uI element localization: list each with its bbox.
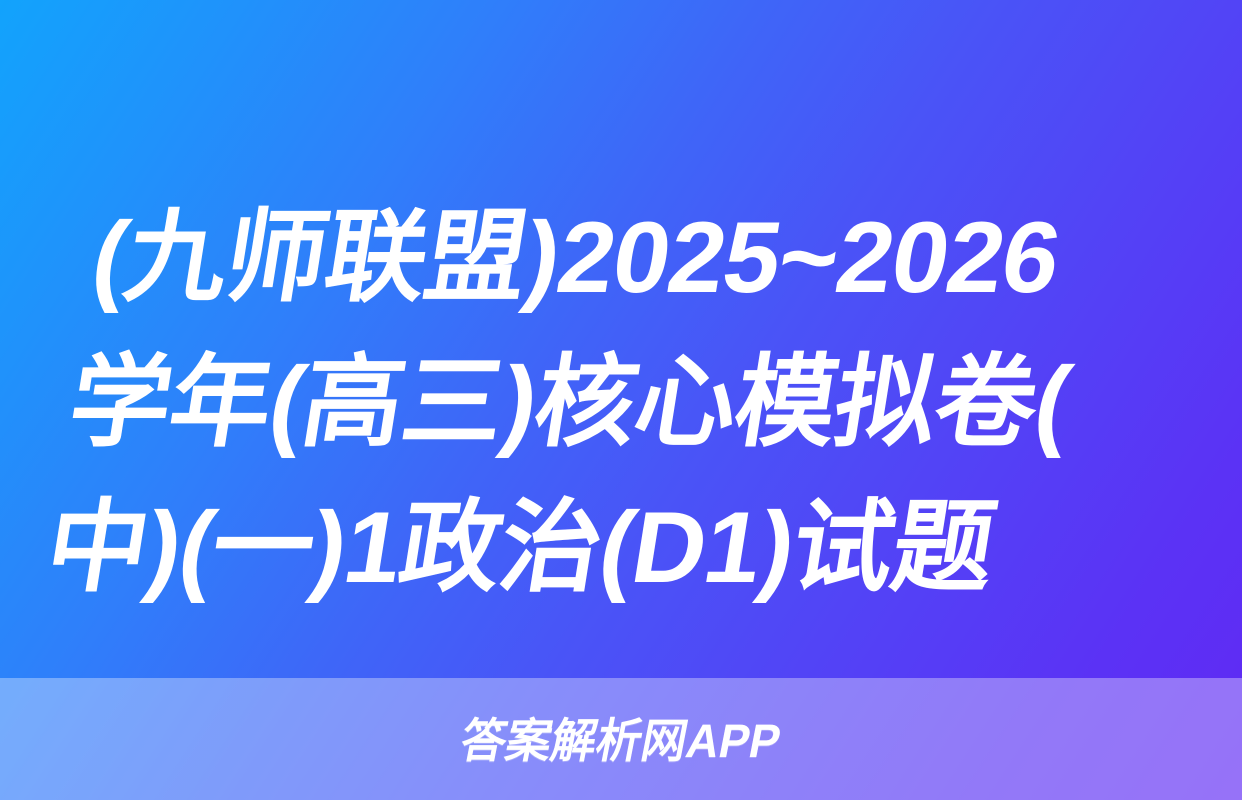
- exam-cover-card: (九师联盟)2025~2026 学年(高三)核心模拟卷( 中)(一)1政治(D1…: [0, 0, 1242, 800]
- page-title-line-1: (九师联盟)2025~2026: [82, 186, 1145, 331]
- page-title: (九师联盟)2025~2026 学年(高三)核心模拟卷( 中)(一)1政治(D1…: [36, 186, 1145, 621]
- watermark-band: 答案解析网APP: [0, 678, 1242, 800]
- page-title-line-3: 中)(一)1政治(D1)试题: [36, 476, 1099, 621]
- watermark-label: 答案解析网APP: [457, 717, 785, 764]
- page-title-line-2: 学年(高三)核心模拟卷(: [59, 331, 1122, 476]
